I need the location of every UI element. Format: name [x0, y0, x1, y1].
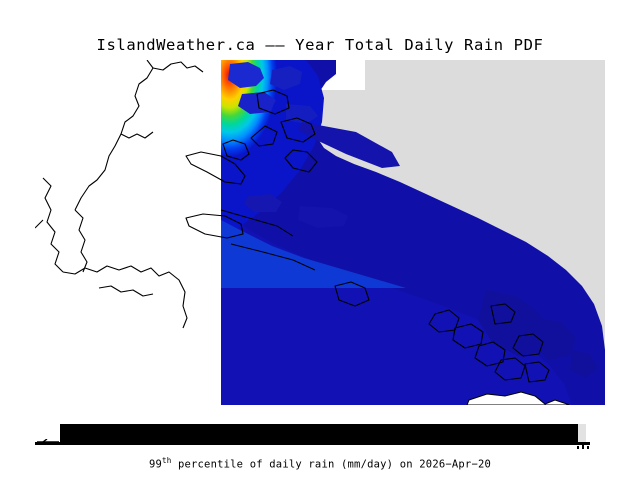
island-outlines	[186, 90, 549, 382]
colorbar-left-arrow-icon	[37, 439, 59, 445]
colorbar-right-tick-marks	[575, 444, 599, 450]
colorbar-baseline	[35, 442, 590, 445]
southwest-land-shapes	[467, 392, 569, 405]
screenshot-root: IslandWeather.ca —— Year Total Daily Rai…	[0, 0, 640, 480]
caption-description: percentile of daily rain (mm/day) on 202…	[171, 459, 491, 471]
colorbar-container[interactable]	[35, 418, 605, 448]
page-title: IslandWeather.ca —— Year Total Daily Rai…	[0, 36, 640, 54]
figure-caption: 99th percentile of daily rain (mm/day) o…	[0, 456, 640, 471]
map-panel[interactable]	[35, 60, 605, 405]
caption-percentile-number: 99	[149, 459, 162, 471]
colorbar-gradient	[60, 424, 578, 442]
coastline-overlay	[35, 60, 605, 405]
colorbar-overflow-segment	[578, 424, 586, 442]
